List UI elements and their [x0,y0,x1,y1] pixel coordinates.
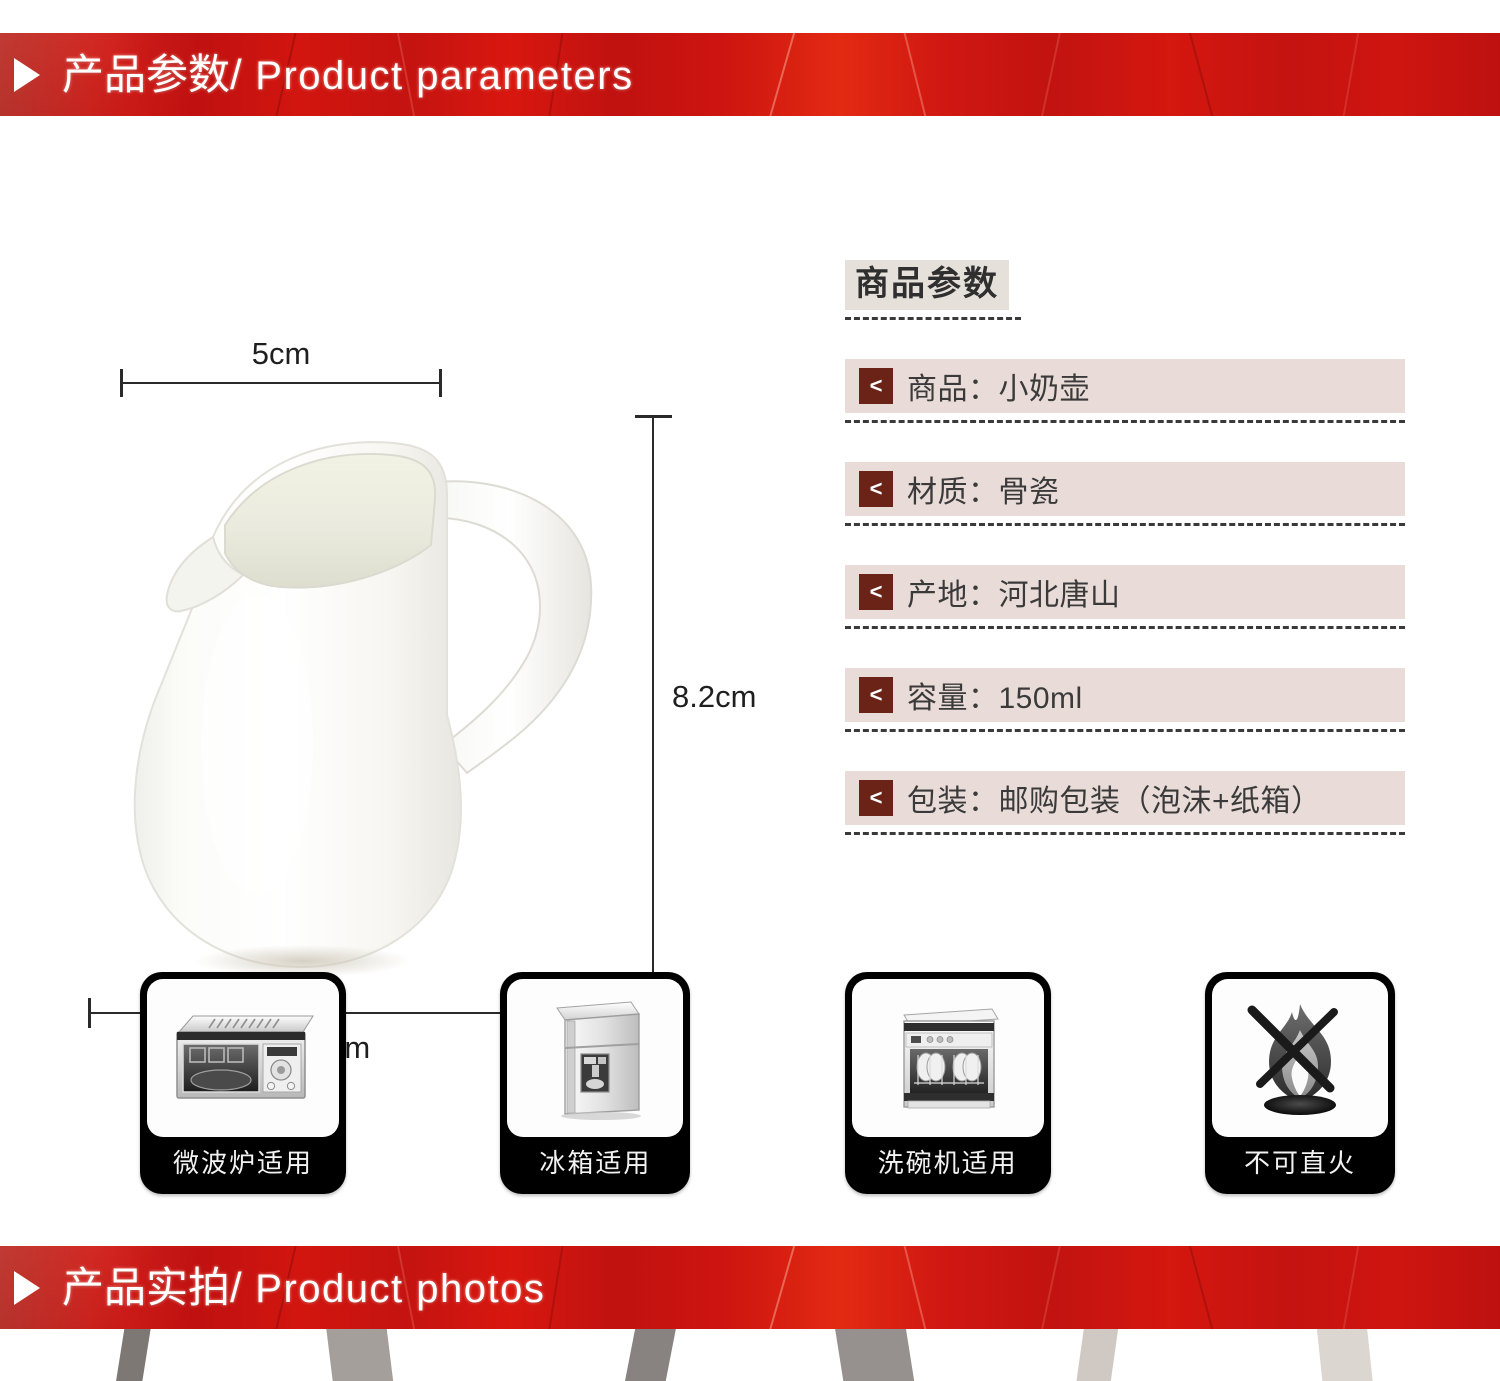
feature-badge-row: 微波炉适用 [140,972,1395,1197]
refrigerator-icon [507,979,683,1137]
spec-row-text: 包装：邮购包装（泡沫+纸箱） [907,776,1322,820]
spec-row-bar: < 产地：河北唐山 [845,565,1405,619]
chevron-left-icon: < [859,574,893,610]
spec-row-material: < 材质：骨瓷 [845,462,1405,526]
section-title-cn: 产品实拍 [62,1264,230,1311]
chevron-left-icon: < [859,368,893,404]
play-triangle-icon [14,58,40,92]
spec-panel-heading-wrap: 商品参数 [845,260,1405,320]
product-image-with-dimensions: 5cm 8.2cm 9.5cm [0,150,820,940]
badge-label: 洗碗机适用 [878,1150,1018,1176]
badge-label: 冰箱适用 [539,1150,651,1176]
photo-streak [1316,1329,1375,1381]
microwave-icon [147,979,339,1137]
section-title-en: Product parameters [243,54,634,98]
section-banner-product-parameters: 产品参数/ Product parameters [0,33,1500,116]
dishwasher-icon [852,979,1044,1137]
photo-streak [834,1329,917,1381]
section-title-separator: / [230,1264,243,1311]
product-photo-milk-jug [75,415,615,985]
dimension-height: 8.2cm [652,415,654,978]
product-parameters-page: 产品参数/ Product parameters [0,0,1500,1381]
chevron-left-icon: < [859,780,893,816]
spec-row-text: 容量：150ml [907,673,1083,717]
dimension-top-width: 5cm [120,382,442,384]
section-banner-product-photos: 产品实拍/ Product photos [0,1246,1500,1329]
spec-row-text: 产地：河北唐山 [907,570,1121,614]
dimension-bar [652,415,654,978]
spec-row-dashed-divider [845,626,1405,629]
chevron-left-icon: < [859,677,893,713]
spec-row-dashed-divider [845,420,1405,423]
spec-row-bar: < 包装：邮购包装（泡沫+纸箱） [845,771,1405,825]
badge-refrigerator-safe: 冰箱适用 [500,972,690,1194]
spec-row-dashed-divider [845,523,1405,526]
spec-row-packaging: < 包装：邮购包装（泡沫+纸箱） [845,771,1405,835]
badge-no-open-flame: 不可直火 [1205,972,1395,1194]
spec-row-product: < 商品：小奶壶 [845,359,1405,423]
product-spec-panel: 商品参数 < 商品：小奶壶 < 材质：骨瓷 < 产地：河北唐山 [845,260,1405,835]
spec-row-bar: < 容量：150ml [845,668,1405,722]
product-photo-strip [0,1329,1500,1381]
spec-row-text: 商品：小奶壶 [907,364,1090,408]
no-open-flame-icon [1212,979,1388,1137]
badge-microwave-safe: 微波炉适用 [140,972,346,1194]
photo-streak [325,1329,395,1381]
chevron-left-icon: < [859,471,893,507]
play-triangle-icon [14,1271,40,1305]
spec-panel-heading: 商品参数 [845,260,1009,310]
badge-dishwasher-safe: 洗碗机适用 [845,972,1051,1194]
section-title-product-photos: 产品实拍/ Product photos [62,1267,545,1309]
badge-label: 不可直火 [1244,1150,1356,1176]
dimension-label-height: 8.2cm [672,679,756,715]
spec-row-bar: < 商品：小奶壶 [845,359,1405,413]
heading-dashed-divider [845,317,1021,320]
spec-row-bar: < 材质：骨瓷 [845,462,1405,516]
spec-row-origin: < 产地：河北唐山 [845,565,1405,629]
section-title-product-parameters: 产品参数/ Product parameters [62,54,634,96]
photo-streak [113,1329,153,1381]
jug-highlight [201,595,313,895]
dimension-bar [120,382,442,384]
dimension-label-top-width: 5cm [120,336,442,372]
spec-row-dashed-divider [845,729,1405,732]
badge-label: 微波炉适用 [173,1150,313,1176]
spec-row-capacity: < 容量：150ml [845,668,1405,732]
dimension-cap-right [439,369,442,397]
spec-row-text: 材质：骨瓷 [907,467,1060,511]
photo-streak [622,1329,678,1381]
photo-streak [1074,1329,1120,1381]
section-title-en: Product photos [243,1267,546,1311]
section-title-separator: / [230,51,243,98]
section-title-cn: 产品参数 [62,51,230,98]
spec-row-dashed-divider [845,832,1405,835]
